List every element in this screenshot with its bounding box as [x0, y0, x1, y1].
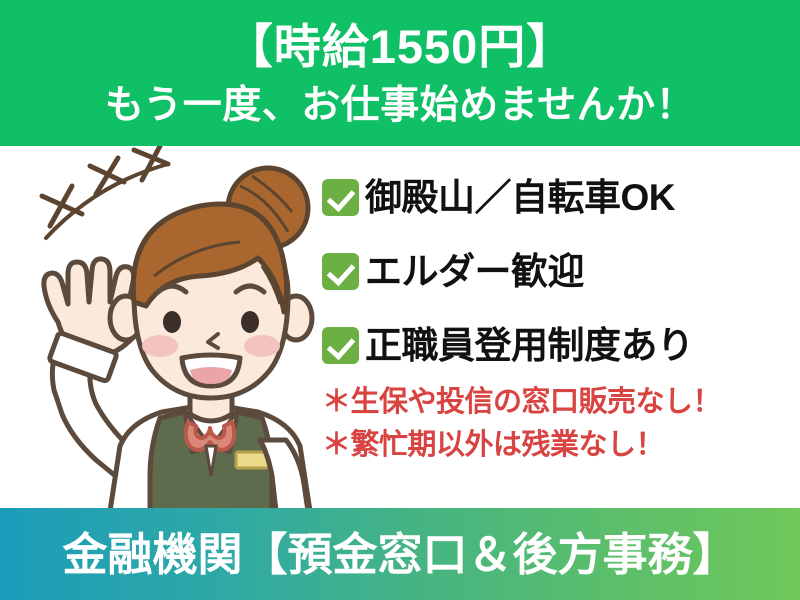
checklist-label: エルダー歓迎: [365, 253, 584, 290]
clerk-illustration: [0, 146, 330, 511]
sparkle-icon: [42, 146, 168, 238]
checkbox-checked-icon: [322, 327, 359, 364]
checkbox-checked-icon: [322, 253, 359, 290]
note-line: ＊繁忙期以外は残業なし！: [322, 431, 800, 460]
list-item: 正職員登用制度あり: [322, 322, 800, 368]
job-ad-poster: 【時給1550円】 もう一度、お仕事始めませんか！: [0, 0, 800, 600]
header-banner: 【時給1550円】 もう一度、お仕事始めませんか！: [0, 0, 800, 146]
list-item: 御殿山／自転車OK: [322, 174, 800, 220]
list-item: エルダー歓迎: [322, 248, 800, 294]
hourly-wage-headline: 【時給1550円】: [226, 23, 575, 70]
eye-right: [241, 311, 259, 333]
eye-left: [163, 311, 181, 333]
job-category-text: 金融機関【預金窓口＆後方事務】: [62, 532, 737, 577]
cheek-right: [244, 335, 280, 357]
checkbox-checked-icon: [322, 179, 359, 216]
cheek-left: [142, 335, 178, 357]
checklist-label: 正職員登用制度あり: [365, 327, 694, 364]
checklist-label: 御殿山／自転車OK: [365, 179, 675, 216]
note-line: ＊生保や投信の窓口販売なし！: [322, 388, 800, 417]
header-subheadline: もう一度、お仕事始めませんか！: [105, 86, 695, 125]
footer-banner: 金融機関【預金窓口＆後方事務】: [0, 508, 800, 600]
features-list: 御殿山／自転車OK エルダー歓迎 正職員登用制度あり ＊生保や投信の窓口販売なし…: [322, 174, 800, 460]
